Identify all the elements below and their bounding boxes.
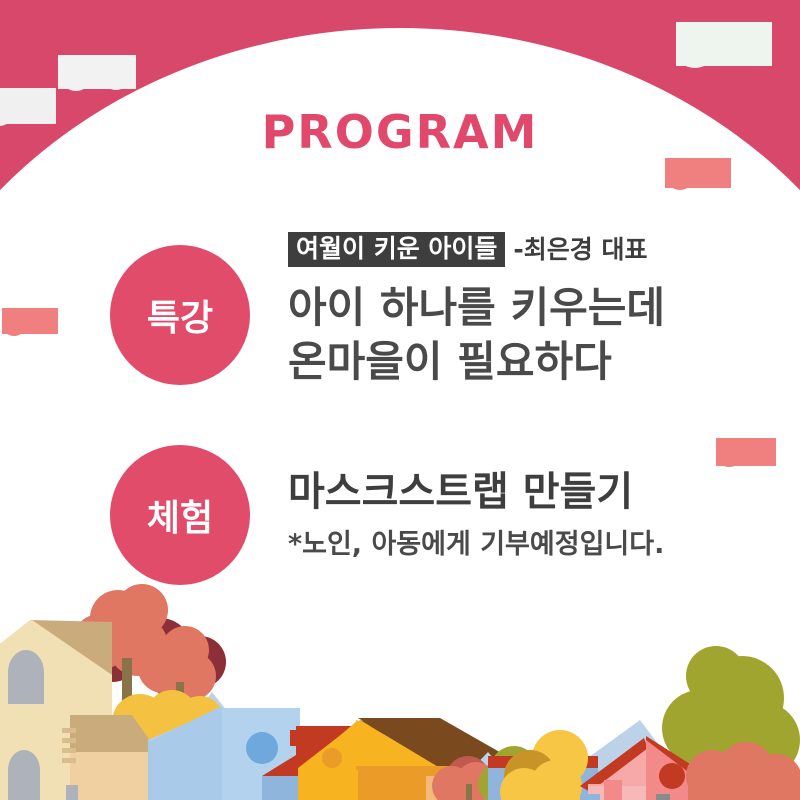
lecture-headline: 아이 하나를 키우는데 온마을이 필요하다 — [288, 281, 665, 389]
lecture-subtitle-line: 여월이 키운 아이들 -최은경 대표 — [288, 232, 665, 267]
badge-experience: 체험 — [110, 445, 250, 585]
lecture-headline-line2: 온마을이 필요하다 — [288, 335, 665, 389]
cloud-white-top-left — [58, 55, 136, 89]
cloud-white-top-right — [676, 22, 772, 66]
badge-lecture: 특강 — [110, 245, 250, 385]
lecture-headline-line1: 아이 하나를 키우는데 — [288, 281, 665, 335]
lecture-copy: 여월이 키운 아이들 -최은경 대표 아이 하나를 키우는데 온마을이 필요하다 — [288, 232, 665, 389]
cloud-pink-right-lower — [716, 438, 776, 466]
village-illustration — [0, 580, 800, 800]
experience-headline: 마스크스트랩 만들기 — [288, 470, 664, 514]
page-title: PROGRAM — [0, 105, 800, 159]
cloud-pink-right-upper — [665, 158, 731, 188]
blue-base-right — [580, 794, 600, 800]
yellow-bush-large — [500, 730, 588, 800]
poster-canvas: PROGRAM 특강 여월이 키운 아이들 -최은경 대표 아이 하나를 키우는… — [0, 0, 800, 800]
lecture-book-title: 여월이 키운 아이들 — [288, 232, 505, 267]
experience-note: *노인, 아동에게 기부예정입니다. — [288, 522, 664, 561]
cloud-pink-left — [2, 308, 58, 334]
lecture-speaker: -최은경 대표 — [513, 237, 647, 262]
experience-copy: 마스크스트랩 만들기 *노인, 아동에게 기부예정입니다. — [288, 470, 664, 561]
